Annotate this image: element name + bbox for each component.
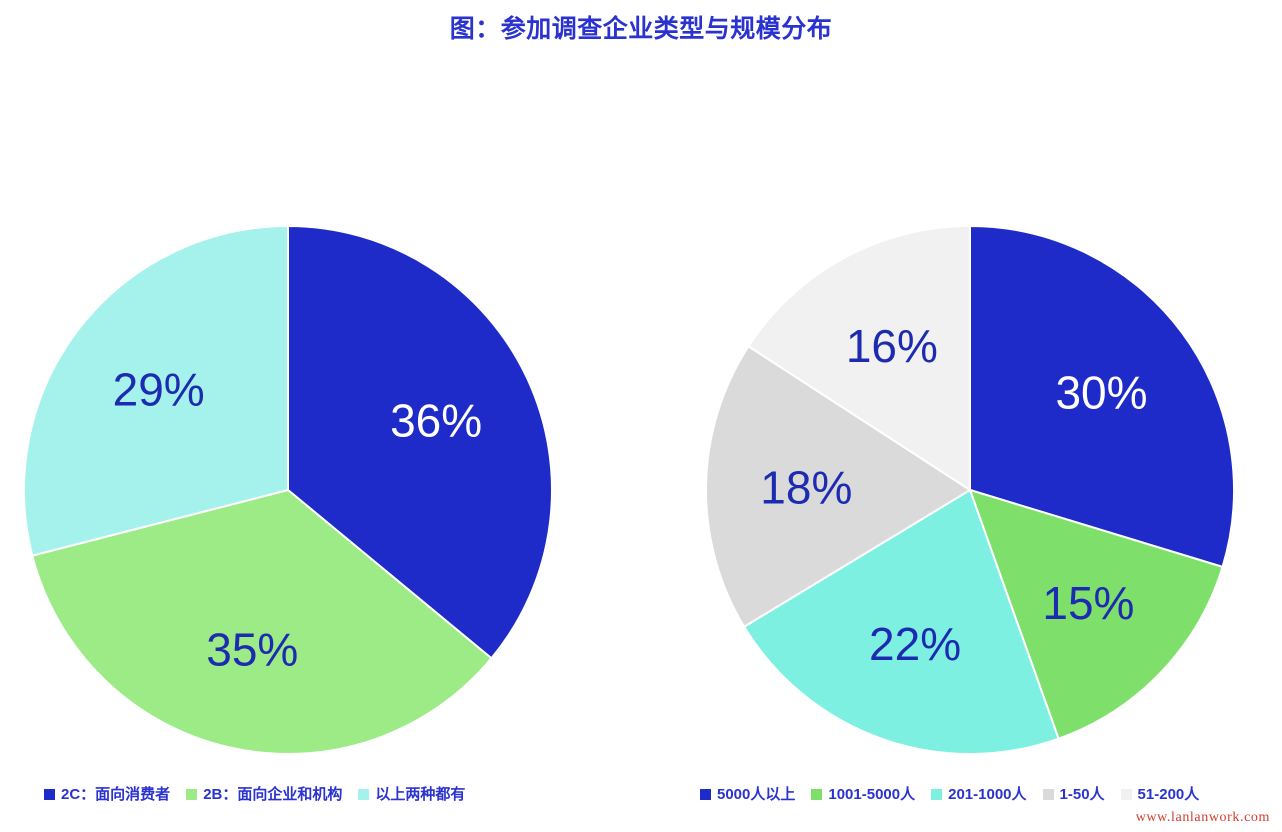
- legend-company-type-label: 2B：面向企业和机构: [203, 787, 342, 802]
- legend-swatch-icon: [700, 789, 711, 800]
- pie-chart-company-type: 36%35%29%: [8, 210, 568, 770]
- pie-slice-label: 29%: [113, 364, 205, 416]
- legend-company-size-item[interactable]: 1-50人: [1043, 787, 1105, 802]
- legend-company-type-label: 2C：面向消费者: [61, 787, 170, 802]
- page-title: 图：参加调查企业类型与规模分布: [0, 14, 1282, 44]
- pie-chart-company-size: 30%15%22%18%16%: [690, 210, 1250, 770]
- watermark: www.lanlanwork.com: [1136, 810, 1270, 826]
- legend-company-size: 5000人以上1001-5000人201-1000人1-50人51-200人: [700, 787, 1199, 802]
- legend-company-type-item[interactable]: 2B：面向企业和机构: [186, 787, 342, 802]
- legend-swatch-icon: [1121, 789, 1132, 800]
- legend-company-size-item[interactable]: 5000人以上: [700, 787, 795, 802]
- legend-swatch-icon: [931, 789, 942, 800]
- pie-right-svg: 30%15%22%18%16%: [690, 210, 1250, 770]
- legend-company-size-item[interactable]: 51-200人: [1121, 787, 1200, 802]
- legend-company-type-item[interactable]: 以上两种都有: [358, 787, 465, 802]
- legend-company-size-item[interactable]: 201-1000人: [931, 787, 1026, 802]
- chart-page: 图：参加调查企业类型与规模分布 36%35%29% 30%15%22%18%16…: [0, 0, 1282, 832]
- legend-company-size-label: 1001-5000人: [828, 787, 915, 802]
- legend-swatch-icon: [1043, 789, 1054, 800]
- legend-company-type-item[interactable]: 2C：面向消费者: [44, 787, 170, 802]
- legend-company-type-label: 以上两种都有: [375, 787, 465, 802]
- legend-company-size-label: 5000人以上: [717, 787, 795, 802]
- pie-slice-label: 15%: [1042, 577, 1134, 629]
- pie-slice-label: 36%: [390, 394, 482, 446]
- legend-company-size-item[interactable]: 1001-5000人: [811, 787, 915, 802]
- legend-swatch-icon: [44, 789, 55, 800]
- pie-slice-label: 18%: [760, 461, 852, 513]
- pie-slice-label: 30%: [1055, 367, 1147, 419]
- pie-slice-label: 35%: [206, 624, 298, 676]
- legend-company-size-label: 51-200人: [1138, 787, 1200, 802]
- pie-slice-label: 16%: [846, 320, 938, 372]
- legend-company-size-label: 1-50人: [1060, 787, 1105, 802]
- legend-swatch-icon: [358, 789, 369, 800]
- pie-left-svg: 36%35%29%: [8, 210, 568, 770]
- legend-swatch-icon: [186, 789, 197, 800]
- legend-swatch-icon: [811, 789, 822, 800]
- legend-company-size-label: 201-1000人: [948, 787, 1026, 802]
- legend-company-type: 2C：面向消费者2B：面向企业和机构以上两种都有: [44, 787, 465, 802]
- pie-slice-label: 22%: [869, 618, 961, 670]
